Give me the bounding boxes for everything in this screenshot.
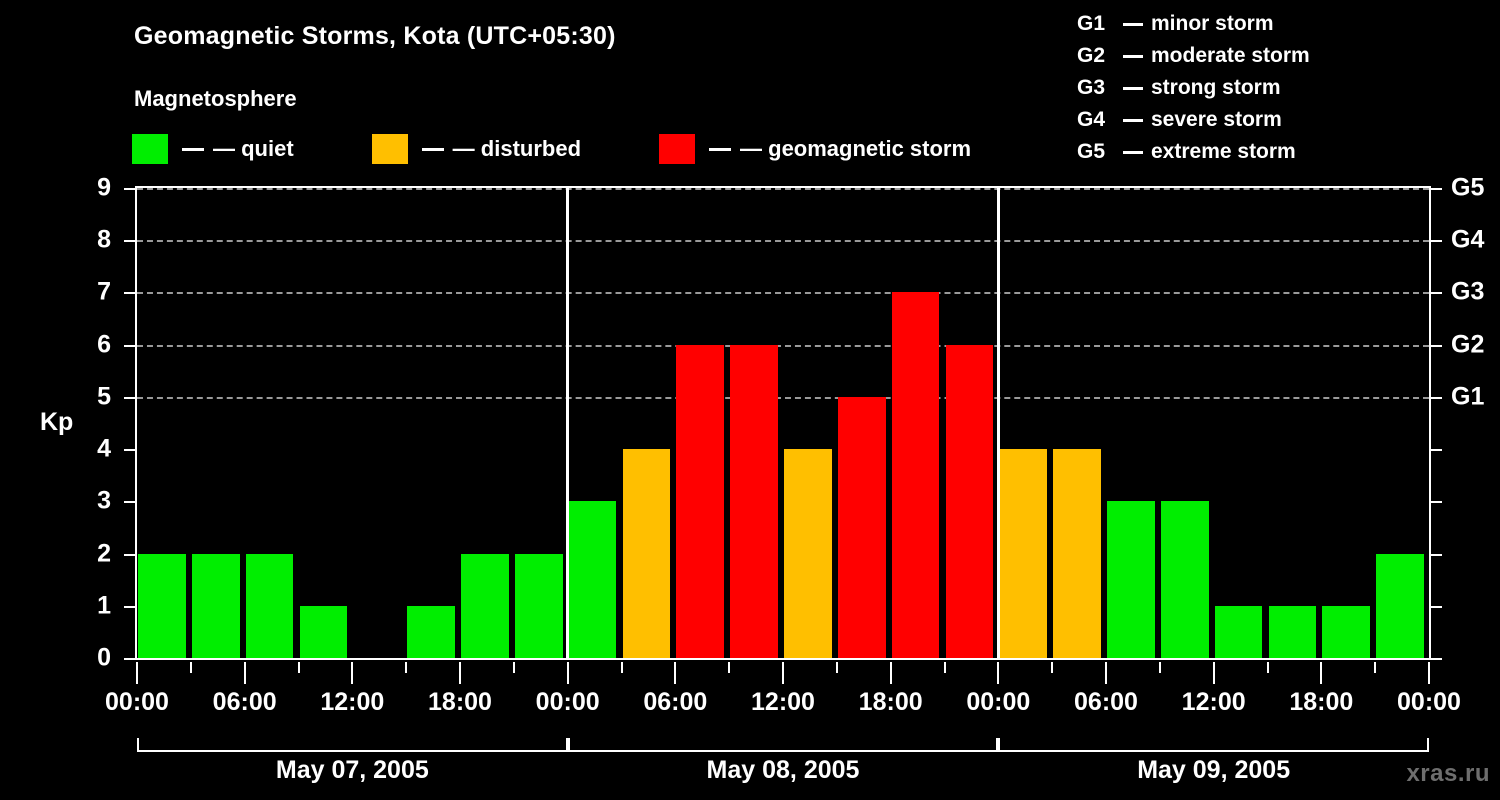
x-tick-label: 12:00 [320, 688, 384, 717]
x-tick-minor [190, 662, 192, 673]
y-tick [124, 345, 135, 347]
bar[interactable] [1215, 606, 1263, 658]
watermark: xras.ru [1406, 760, 1490, 788]
day-bracket [998, 738, 1429, 752]
y-tick-label: 6 [71, 330, 111, 359]
chart-subtitle: Magnetosphere [134, 86, 297, 112]
bar[interactable] [1322, 606, 1370, 658]
g-scale-row-g3: G3 strong storm [1077, 72, 1310, 104]
page-title: Geomagnetic Storms, Kota (UTC+05:30) [134, 22, 616, 51]
g-scale-text: severe storm [1151, 108, 1282, 132]
g-axis-label-g1: G1 [1451, 382, 1484, 411]
x-tick-minor [621, 662, 623, 673]
bar[interactable] [192, 554, 240, 658]
x-tick-label: 06:00 [213, 688, 277, 717]
bar[interactable] [300, 606, 348, 658]
bar[interactable] [1053, 449, 1101, 658]
x-tick-major [782, 662, 784, 684]
g-scale-dash-icon [1123, 87, 1143, 90]
g-scale-code: G1 [1077, 12, 1115, 36]
x-tick-minor [1051, 662, 1053, 673]
g-scale-row-g4: G4 severe storm [1077, 104, 1310, 136]
y-tick [124, 240, 135, 242]
x-tick-label: 00:00 [1397, 688, 1461, 717]
day-label: May 09, 2005 [1137, 756, 1290, 785]
bar[interactable] [676, 345, 724, 658]
y-tick-right [1431, 658, 1442, 660]
legend-swatch-storm [659, 134, 695, 164]
legend-label-disturbed: — disturbed [453, 136, 581, 162]
legend-label-quiet: — quiet [213, 136, 294, 162]
bar[interactable] [461, 554, 509, 658]
g-scale-dash-icon [1123, 151, 1143, 154]
y-tick-right [1431, 606, 1442, 608]
x-tick-label: 00:00 [536, 688, 600, 717]
x-tick-minor [1159, 662, 1161, 673]
x-tick-minor [836, 662, 838, 673]
y-tick [124, 501, 135, 503]
bar[interactable] [569, 501, 617, 658]
x-tick-minor [728, 662, 730, 673]
legend-item-storm: — geomagnetic storm [659, 134, 971, 164]
bar[interactable] [838, 397, 886, 658]
g-scale-legend: G1 minor storm G2 moderate storm G3 stro… [1077, 8, 1310, 168]
day-separator [566, 188, 569, 658]
y-axis-title: Kp [40, 408, 73, 437]
y-tick [124, 658, 135, 660]
x-tick-minor [405, 662, 407, 673]
bar[interactable] [730, 345, 778, 658]
x-tick-major [1213, 662, 1215, 684]
y-tick [124, 449, 135, 451]
y-tick-label: 8 [71, 226, 111, 255]
chart-page: Geomagnetic Storms, Kota (UTC+05:30) Mag… [0, 0, 1500, 800]
bar[interactable] [1269, 606, 1317, 658]
y-tick-label: 9 [71, 174, 111, 203]
bar[interactable] [138, 554, 186, 658]
g-scale-row-g5: G5 extreme storm [1077, 136, 1310, 168]
legend-swatch-quiet [132, 134, 168, 164]
y-tick-label: 7 [71, 278, 111, 307]
y-tick-right [1431, 240, 1442, 242]
plot-area [135, 186, 1431, 660]
plot-inner [137, 188, 1429, 658]
y-tick-right [1431, 501, 1442, 503]
y-tick-label: 5 [71, 382, 111, 411]
legend-dash-icon [709, 148, 731, 151]
y-tick-right [1431, 397, 1442, 399]
x-tick-major [459, 662, 461, 684]
x-tick-label: 12:00 [1182, 688, 1246, 717]
x-tick-major [136, 662, 138, 684]
y-tick-right [1431, 188, 1442, 190]
x-tick-major [997, 662, 999, 684]
x-tick-major [567, 662, 569, 684]
color-legend: — quiet — disturbed — geomagnetic storm [132, 134, 971, 164]
day-bracket [568, 738, 999, 752]
g-scale-text: strong storm [1151, 76, 1281, 100]
y-tick-label: 3 [71, 487, 111, 516]
y-tick-right [1431, 554, 1442, 556]
x-tick-label: 00:00 [966, 688, 1030, 717]
bar[interactable] [784, 449, 832, 658]
g-scale-text: moderate storm [1151, 44, 1310, 68]
g-scale-code: G4 [1077, 108, 1115, 132]
x-tick-minor [298, 662, 300, 673]
y-tick-right [1431, 292, 1442, 294]
bar[interactable] [892, 292, 940, 658]
x-tick-minor [944, 662, 946, 673]
y-tick [124, 397, 135, 399]
y-tick-label: 2 [71, 539, 111, 568]
x-tick-major [1428, 662, 1430, 684]
bar[interactable] [623, 449, 671, 658]
legend-dash-icon [422, 148, 444, 151]
bar[interactable] [1107, 501, 1155, 658]
legend-item-disturbed: — disturbed [372, 134, 581, 164]
x-tick-major [1320, 662, 1322, 684]
g-scale-row-g1: G1 minor storm [1077, 8, 1310, 40]
x-tick-minor [1374, 662, 1376, 673]
bar[interactable] [999, 449, 1047, 658]
x-tick-major [1105, 662, 1107, 684]
g-scale-code: G3 [1077, 76, 1115, 100]
g-axis-label-g3: G3 [1451, 278, 1484, 307]
y-tick-right [1431, 345, 1442, 347]
y-tick-label: 0 [71, 644, 111, 673]
y-tick [124, 606, 135, 608]
y-tick [124, 554, 135, 556]
legend-label-storm: — geomagnetic storm [740, 136, 971, 162]
bar[interactable] [246, 554, 294, 658]
g-scale-text: extreme storm [1151, 140, 1296, 164]
g-scale-row-g2: G2 moderate storm [1077, 40, 1310, 72]
bar[interactable] [407, 606, 455, 658]
x-tick-label: 00:00 [105, 688, 169, 717]
bar-series [137, 188, 1429, 658]
g-axis-label-g2: G2 [1451, 330, 1484, 359]
x-tick-label: 06:00 [643, 688, 707, 717]
x-tick-minor [1267, 662, 1269, 673]
day-label: May 08, 2005 [707, 756, 860, 785]
legend-dash-icon [182, 148, 204, 151]
x-tick-major [351, 662, 353, 684]
x-tick-major [674, 662, 676, 684]
x-tick-label: 12:00 [751, 688, 815, 717]
x-tick-label: 18:00 [859, 688, 923, 717]
day-separator [997, 188, 1000, 658]
legend-item-quiet: — quiet [132, 134, 294, 164]
g-scale-text: minor storm [1151, 12, 1274, 36]
y-tick [124, 188, 135, 190]
y-tick-label: 4 [71, 435, 111, 464]
x-tick-label: 18:00 [1289, 688, 1353, 717]
bar[interactable] [1376, 554, 1424, 658]
bar[interactable] [946, 345, 994, 658]
y-tick-right [1431, 449, 1442, 451]
x-tick-minor [513, 662, 515, 673]
g-scale-code: G2 [1077, 44, 1115, 68]
g-scale-dash-icon [1123, 23, 1143, 26]
g-axis-label-g4: G4 [1451, 226, 1484, 255]
y-tick-label: 1 [71, 591, 111, 620]
day-bracket [137, 738, 568, 752]
y-tick [124, 292, 135, 294]
day-label: May 07, 2005 [276, 756, 429, 785]
x-tick-major [244, 662, 246, 684]
x-tick-label: 18:00 [428, 688, 492, 717]
bar[interactable] [1161, 501, 1209, 658]
g-scale-dash-icon [1123, 55, 1143, 58]
g-axis-label-g5: G5 [1451, 174, 1484, 203]
x-tick-label: 06:00 [1074, 688, 1138, 717]
legend-swatch-disturbed [372, 134, 408, 164]
g-scale-code: G5 [1077, 140, 1115, 164]
g-scale-dash-icon [1123, 119, 1143, 122]
bar[interactable] [515, 554, 563, 658]
x-tick-major [890, 662, 892, 684]
